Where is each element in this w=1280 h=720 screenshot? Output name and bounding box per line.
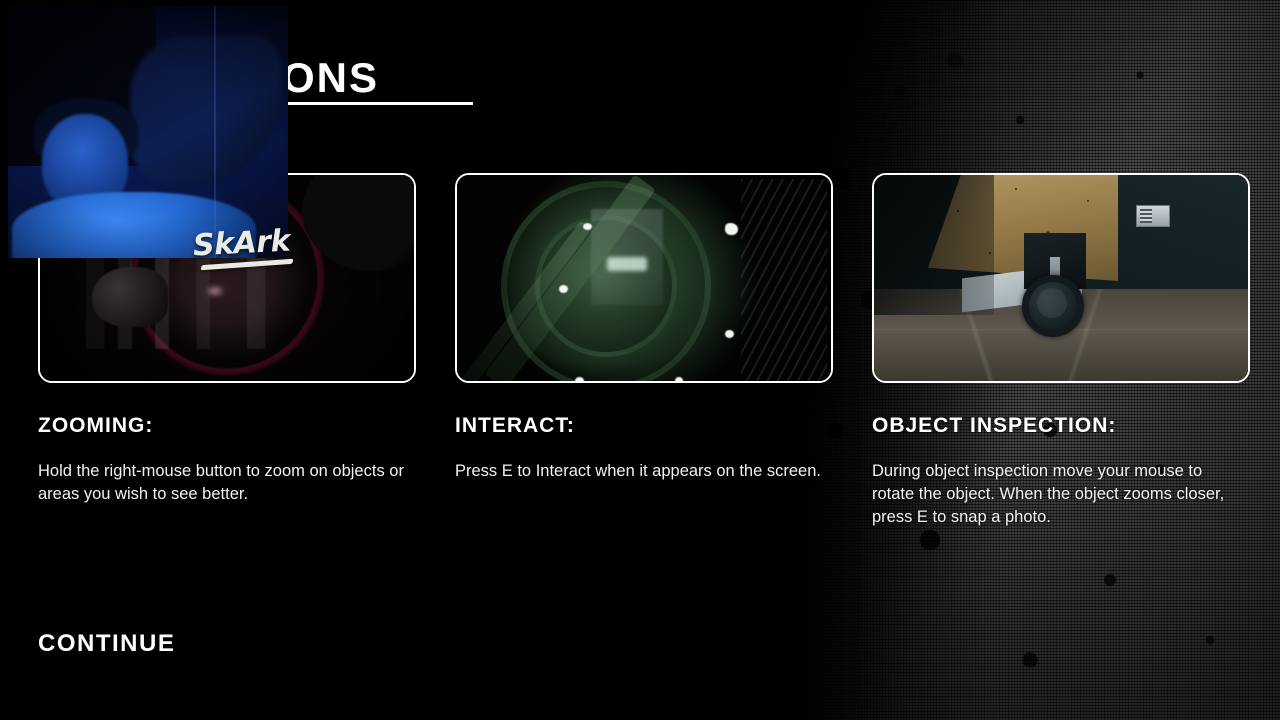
specular-dot [675, 377, 683, 383]
continue-button[interactable]: CONTINUE [38, 630, 175, 658]
shadow-left [874, 175, 994, 315]
specular-dot [583, 223, 592, 230]
magnifier-lens-icon [1022, 275, 1084, 337]
instruction-card-object-inspection: OBJECT INSPECTION: During object inspect… [872, 173, 1250, 528]
interact-thumbnail [455, 173, 833, 383]
webcam-overlay [8, 6, 288, 258]
wall-panel [1136, 205, 1170, 227]
specular-dot [559, 285, 568, 293]
card-heading: ZOOMING: [38, 414, 416, 438]
instruction-card-interact: INTERACT: Press E to Interact when it ap… [455, 173, 833, 483]
machine-detail [92, 267, 168, 327]
card-heading: OBJECT INSPECTION: [872, 414, 1250, 438]
card-body-text: During object inspection move your mouse… [872, 460, 1244, 528]
webcam-vignette [8, 6, 288, 258]
card-body-text: Hold the right-mouse button to zoom on o… [38, 460, 410, 506]
specular-dot [575, 377, 584, 383]
card-heading: INTERACT: [455, 414, 833, 438]
card-body-text: Press E to Interact when it appears on t… [455, 460, 827, 483]
window-light [607, 257, 647, 271]
rib-texture [741, 179, 827, 381]
specular-dot [725, 223, 738, 235]
specular-dot [725, 330, 734, 338]
object-inspection-thumbnail [872, 173, 1250, 383]
glow-highlight [208, 287, 222, 295]
